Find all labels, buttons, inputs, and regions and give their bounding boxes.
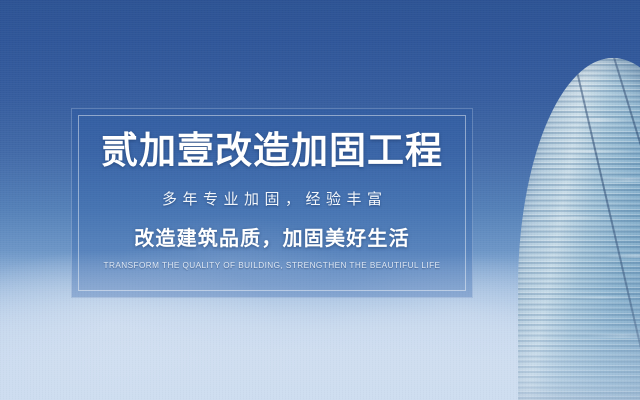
banner-image: 贰加壹改造加固工程 多年专业加固，经验丰富 改造建筑品质，加固美好生活 TRAN… [0, 0, 640, 400]
skyscraper [490, 0, 640, 400]
banner-tagline: 改造建筑品质，加固美好生活 [134, 222, 410, 251]
tower-shading-overlay [518, 58, 640, 400]
tower-body [518, 58, 640, 400]
banner-title: 贰加壹改造加固工程 [101, 131, 443, 170]
text-panel: 贰加壹改造加固工程 多年专业加固，经验丰富 改造建筑品质，加固美好生活 TRAN… [71, 108, 473, 298]
banner-english-tagline: TRANSFORM THE QUALITY OF BUILDING, STREN… [104, 261, 441, 270]
banner-subtitle: 多年专业加固，经验丰富 [156, 188, 387, 209]
panel-content: 贰加壹改造加固工程 多年专业加固，经验丰富 改造建筑品质，加固美好生活 TRAN… [72, 109, 472, 297]
